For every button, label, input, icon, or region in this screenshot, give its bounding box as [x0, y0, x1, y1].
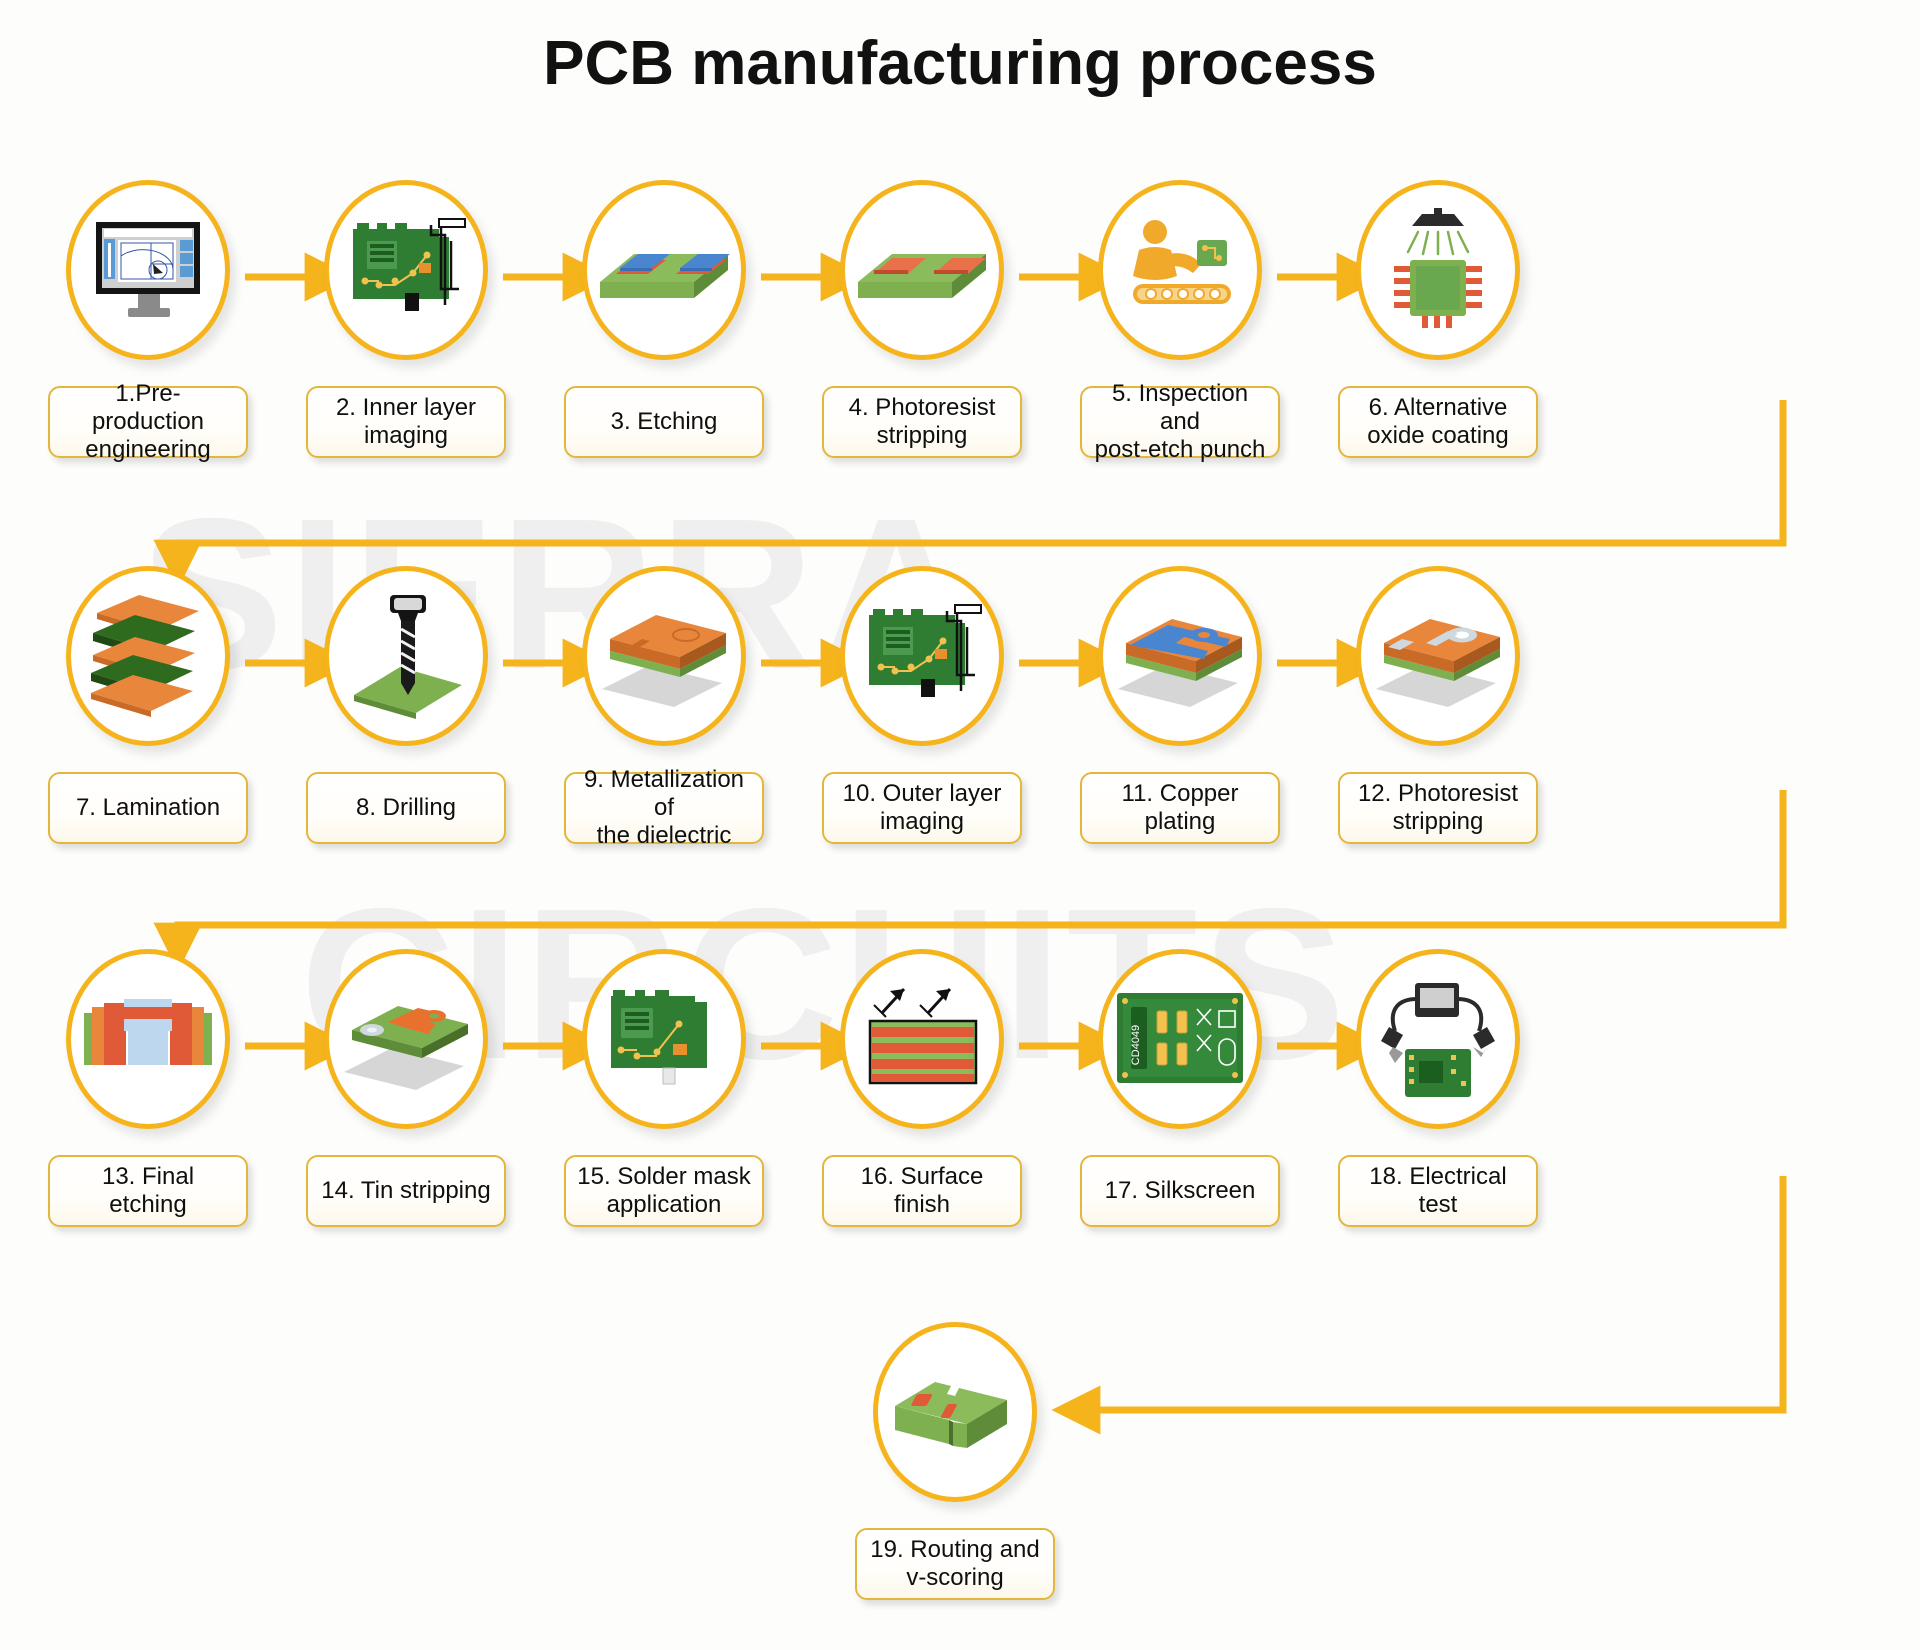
step-label-7: 7. Lamination [48, 772, 248, 844]
step-circle-16[interactable] [840, 949, 1004, 1129]
step-label-4: 4. Photoresiststripping [822, 386, 1022, 458]
photoresist-strip2-icon [1368, 603, 1508, 709]
step-circle-7[interactable] [66, 566, 230, 746]
step-label-17: 17. Silkscreen [1080, 1155, 1280, 1227]
drill-bit-icon [342, 591, 470, 721]
step-node-14[interactable]: 14. Tin stripping [306, 949, 506, 1227]
step-node-13[interactable]: 13. Final etching [48, 949, 248, 1227]
step-circle-15[interactable] [582, 949, 746, 1129]
electrical-test-icon [1375, 977, 1501, 1101]
step-node-18[interactable]: 18. Electrical test [1338, 949, 1538, 1227]
step-circle-10[interactable] [840, 566, 1004, 746]
step-circle-12[interactable] [1356, 566, 1520, 746]
step-label-9: 9. Metallization ofthe dielectric [564, 772, 764, 844]
cad-monitor-icon [88, 216, 208, 324]
step-circle-1[interactable] [66, 180, 230, 360]
step-node-4[interactable]: 4. Photoresiststripping [822, 180, 1022, 458]
page-title: PCB manufacturing process [0, 28, 1920, 99]
step-label-8: 8. Drilling [306, 772, 506, 844]
step-node-7[interactable]: 7. Lamination [48, 566, 248, 844]
step-node-12[interactable]: 12. Photoresiststripping [1338, 566, 1538, 844]
step-circle-18[interactable] [1356, 949, 1520, 1129]
step-node-10[interactable]: 10. Outer layerimaging [822, 566, 1022, 844]
step-circle-2[interactable] [324, 180, 488, 360]
step-circle-19[interactable] [873, 1322, 1037, 1502]
oxide-spray-icon [1378, 208, 1498, 332]
step-node-11[interactable]: 11. Copper plating [1080, 566, 1280, 844]
surface-finish-icon [856, 979, 988, 1099]
step-label-18: 18. Electrical test [1338, 1155, 1538, 1227]
step-circle-14[interactable] [324, 949, 488, 1129]
step-node-19[interactable]: 19. Routing andv-scoring [855, 1322, 1055, 1600]
final-etching-icon [78, 993, 218, 1085]
step-node-3[interactable]: 3. Etching [564, 180, 764, 458]
silkscreen-text: CD4049 [1130, 1025, 1142, 1065]
step-circle-9[interactable] [582, 566, 746, 746]
routing-vscore-icon [887, 1360, 1023, 1464]
step-node-8[interactable]: 8. Drilling [306, 566, 506, 844]
step-circle-4[interactable] [840, 180, 1004, 360]
copper-plating-icon [1110, 603, 1250, 709]
step-label-16: 16. Surface finish [822, 1155, 1022, 1227]
step-node-2[interactable]: 2. Inner layerimaging [306, 180, 506, 458]
step-circle-8[interactable] [324, 566, 488, 746]
step-circle-6[interactable] [1356, 180, 1520, 360]
step-node-17[interactable]: CD4049 17. Silkscree [1080, 949, 1280, 1227]
step-node-15[interactable]: 15. Solder maskapplication [564, 949, 764, 1227]
step-label-15: 15. Solder maskapplication [564, 1155, 764, 1227]
etching-board-icon [594, 224, 734, 316]
step-label-5: 5. Inspection andpost-etch punch [1080, 386, 1280, 458]
inner-layer-artwork-icon [343, 211, 469, 329]
step-label-11: 11. Copper plating [1080, 772, 1280, 844]
step-label-14: 14. Tin stripping [306, 1155, 506, 1227]
step-circle-13[interactable] [66, 949, 230, 1129]
step-node-1[interactable]: 1.Pre-productionengineering [48, 180, 248, 458]
step-node-16[interactable]: 16. Surface finish [822, 949, 1022, 1227]
step-label-10: 10. Outer layerimaging [822, 772, 1022, 844]
step-circle-11[interactable] [1098, 566, 1262, 746]
step-label-13: 13. Final etching [48, 1155, 248, 1227]
step-label-6: 6. Alternativeoxide coating [1338, 386, 1538, 458]
step-label-3: 3. Etching [564, 386, 764, 458]
step-circle-5[interactable] [1098, 180, 1262, 360]
step-label-1: 1.Pre-productionengineering [48, 386, 248, 458]
step-node-5[interactable]: 5. Inspection andpost-etch punch [1080, 180, 1280, 458]
step-label-2: 2. Inner layerimaging [306, 386, 506, 458]
lamination-stack-icon [83, 593, 213, 719]
step-label-19: 19. Routing andv-scoring [855, 1528, 1055, 1600]
step-node-6[interactable]: 6. Alternativeoxide coating [1338, 180, 1538, 458]
outer-layer-artwork-icon [859, 597, 985, 715]
step-circle-3[interactable] [582, 180, 746, 360]
photoresist-strip-icon [852, 224, 992, 316]
step-node-9[interactable]: 9. Metallization ofthe dielectric [564, 566, 764, 844]
silkscreen-board-icon: CD4049 [1113, 987, 1247, 1091]
inspection-conveyor-icon [1115, 214, 1245, 326]
tin-stripping-icon [336, 986, 476, 1092]
step-circle-17[interactable]: CD4049 [1098, 949, 1262, 1129]
solder-mask-icon [601, 980, 727, 1098]
step-label-12: 12. Photoresiststripping [1338, 772, 1538, 844]
metallization-icon [594, 603, 734, 709]
